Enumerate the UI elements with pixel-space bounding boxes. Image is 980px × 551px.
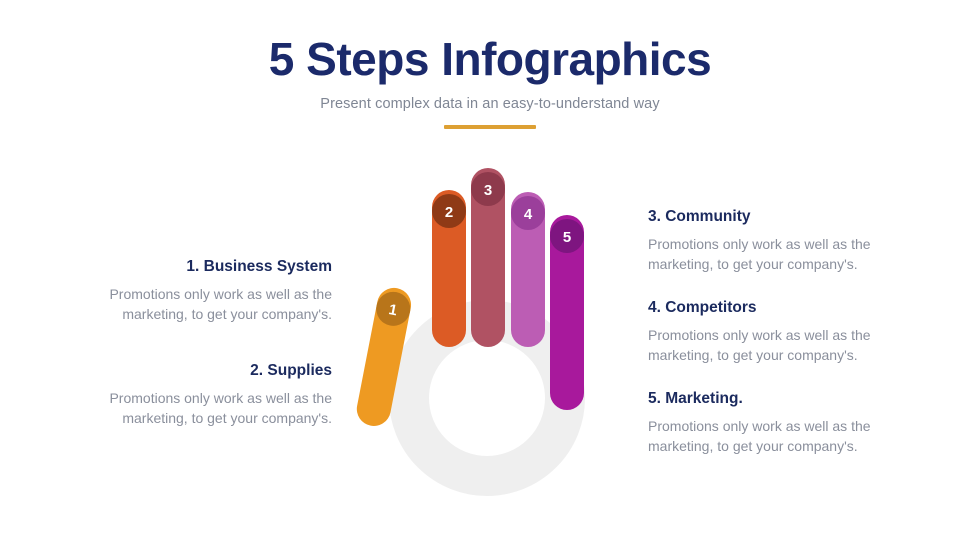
right-step-column: 3. Community Promotions only work as wel… [648,208,910,473]
finger-3: 3 [471,168,505,347]
step-badge-label-3: 3 [484,182,492,199]
slide-header: 5 Steps Infographics Present complex dat… [0,34,980,129]
step-body-4: Promotions only work as well as the mark… [648,325,910,366]
step-heading-3: 3. Community [648,208,910,227]
hand-svg: 5 4 3 2 [355,155,615,500]
step-badge-label-5: 5 [563,229,571,246]
step-heading-2: 2. Supplies [70,362,332,381]
hand-diagram: 5 4 3 2 [355,155,615,500]
step-badge-label-2: 2 [445,204,453,221]
step-block-3: 3. Community Promotions only work as wel… [648,208,910,274]
page-subtitle: Present complex data in an easy-to-under… [0,96,980,112]
step-block-1: 1. Business System Promotions only work … [70,258,332,324]
step-body-5: Promotions only work as well as the mark… [648,416,910,457]
step-badge-label-4: 4 [524,206,533,223]
step-block-5: 5. Marketing. Promotions only work as we… [648,390,910,456]
step-block-4: 4. Competitors Promotions only work as w… [648,299,910,365]
step-body-1: Promotions only work as well as the mark… [70,284,332,325]
left-step-column: 1. Business System Promotions only work … [70,258,332,448]
step-heading-5: 5. Marketing. [648,390,910,409]
page-title: 5 Steps Infographics [0,34,980,85]
step-heading-1: 1. Business System [70,258,332,277]
finger-4: 4 [511,192,545,347]
finger-2: 2 [432,190,466,347]
step-body-2: Promotions only work as well as the mark… [70,388,332,429]
accent-divider [444,125,536,129]
finger-5: 5 [550,215,584,410]
step-block-2: 2. Supplies Promotions only work as well… [70,362,332,428]
step-body-3: Promotions only work as well as the mark… [648,234,910,275]
step-heading-4: 4. Competitors [648,299,910,318]
infographic-slide: 5 Steps Infographics Present complex dat… [0,0,980,551]
